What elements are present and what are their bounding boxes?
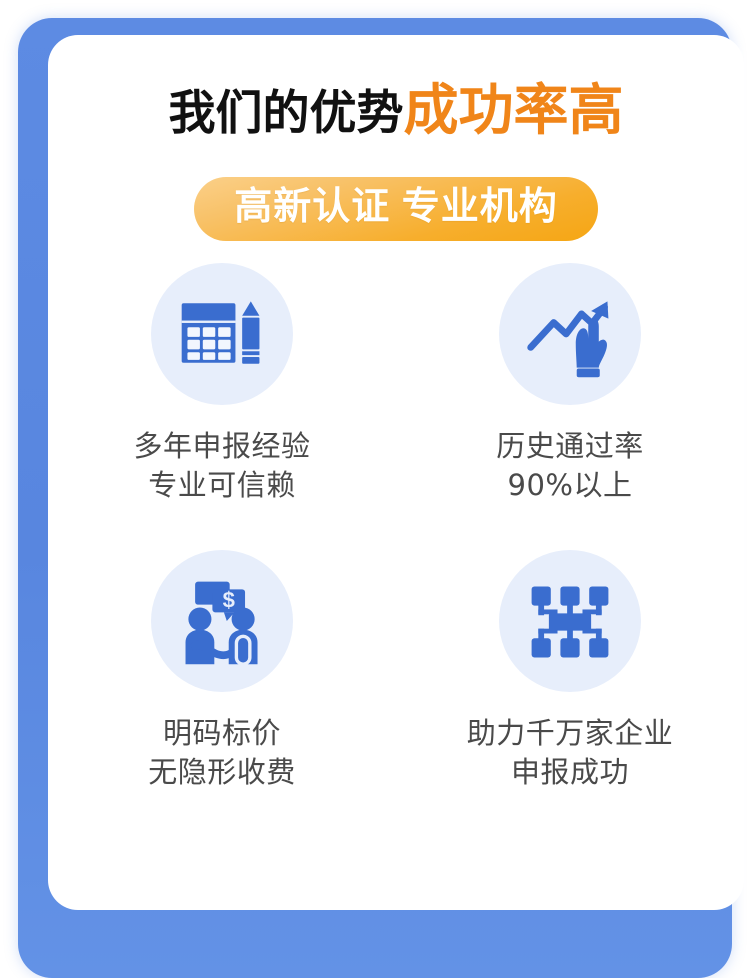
feature-item-pricing: $ 明码标价 无隐形收费 [48, 550, 396, 793]
icon-badge [499, 263, 641, 405]
feature-label: 助力千万家企业 申报成功 [467, 714, 674, 793]
feature-grid: 多年申报经验 专业可信赖 [48, 263, 744, 793]
icon-badge [151, 263, 293, 405]
feature-item-pass-rate: 历史通过率 90%以上 [396, 263, 744, 506]
page-title-accent: 成功率高 [403, 79, 623, 141]
certification-badge: 高新认证 专业机构 [194, 177, 598, 241]
handshake-dollar-icon: $ [174, 573, 270, 669]
svg-text:$: $ [223, 587, 235, 612]
feature-item-experience: 多年申报经验 专业可信赖 [48, 263, 396, 506]
growth-arrow-hand-icon [522, 286, 618, 382]
feature-label: 多年申报经验 专业可信赖 [133, 427, 310, 506]
feature-item-enterprises: 助力千万家企业 申报成功 [396, 550, 744, 793]
calendar-pencil-icon [174, 286, 270, 382]
icon-badge: $ [151, 550, 293, 692]
icon-badge [499, 550, 641, 692]
feature-label: 历史通过率 90%以上 [496, 427, 644, 506]
page-title: 我们的优势成功率高 [48, 83, 744, 138]
badge-container: 高新认证 专业机构 [48, 177, 744, 241]
feature-label: 明码标价 无隐形收费 [148, 714, 296, 793]
feature-card: 我们的优势成功率高 高新认证 专业机构 [48, 35, 744, 910]
network-nodes-icon [522, 573, 618, 669]
page-title-primary: 我们的优势 [168, 86, 403, 139]
outer-blue-frame: 我们的优势成功率高 高新认证 专业机构 [18, 18, 732, 978]
